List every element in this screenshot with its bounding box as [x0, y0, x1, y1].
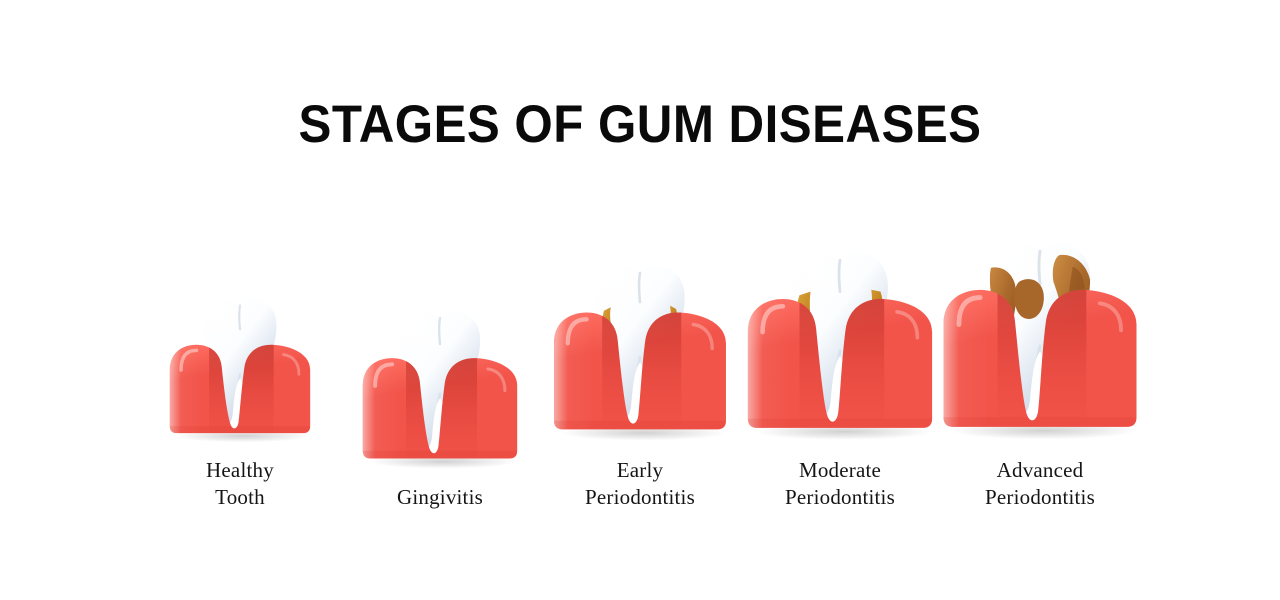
gum-base-shade	[170, 426, 310, 434]
stage-art-advanced-periodontitis	[930, 230, 1150, 450]
crown-fissure	[639, 272, 640, 301]
advanced-periodontitis-illustration	[930, 230, 1150, 450]
stage-label-moderate-periodontitis: Moderate Periodontitis	[785, 457, 895, 512]
stage-early-periodontitis[interactable]: Early Periodontitis	[540, 212, 740, 512]
gum-left-highlight	[944, 286, 988, 489]
gum-left-highlight	[170, 341, 202, 488]
crown-fissure	[239, 305, 240, 329]
crown-fissure	[439, 318, 440, 344]
stage-healthy-tooth[interactable]: Healthy Tooth	[140, 212, 340, 512]
stage-advanced-periodontitis[interactable]: Advanced Periodontitis	[940, 212, 1140, 512]
gum-base-shade	[748, 418, 932, 429]
stage-art-moderate-periodontitis	[735, 240, 945, 450]
stage-art-early-periodontitis	[542, 254, 738, 450]
moderate-periodontitis-illustration	[735, 240, 945, 450]
stage-art-gingivitis	[352, 301, 528, 477]
early-periodontitis-illustration	[542, 254, 738, 450]
stages-row: Healthy Tooth	[0, 212, 1280, 512]
crown-fissure	[839, 260, 840, 291]
gum-left-highlight	[363, 355, 399, 517]
gum-base-shade	[554, 420, 726, 430]
stage-moderate-periodontitis[interactable]: Moderate Periodontitis	[740, 212, 940, 512]
gum-left-highlight	[748, 295, 790, 488]
gum-disease-infographic: STAGES OF GUM DISEASES	[0, 0, 1280, 600]
stage-art-healthy-tooth	[160, 290, 320, 450]
gum-base-shade	[944, 417, 1137, 429]
page-title: STAGES OF GUM DISEASES	[45, 98, 1235, 151]
stage-label-early-periodontitis: Early Periodontitis	[585, 457, 695, 512]
stage-label-gingivitis: Gingivitis	[397, 484, 483, 512]
healthy-tooth-illustration	[160, 290, 320, 450]
gingivitis-illustration	[352, 301, 528, 477]
stage-label-healthy-tooth: Healthy Tooth	[206, 457, 274, 512]
crown-fissure	[1039, 251, 1040, 284]
stage-label-advanced-periodontitis: Advanced Periodontitis	[985, 457, 1095, 512]
stage-gingivitis[interactable]: Gingivitis	[340, 212, 540, 512]
